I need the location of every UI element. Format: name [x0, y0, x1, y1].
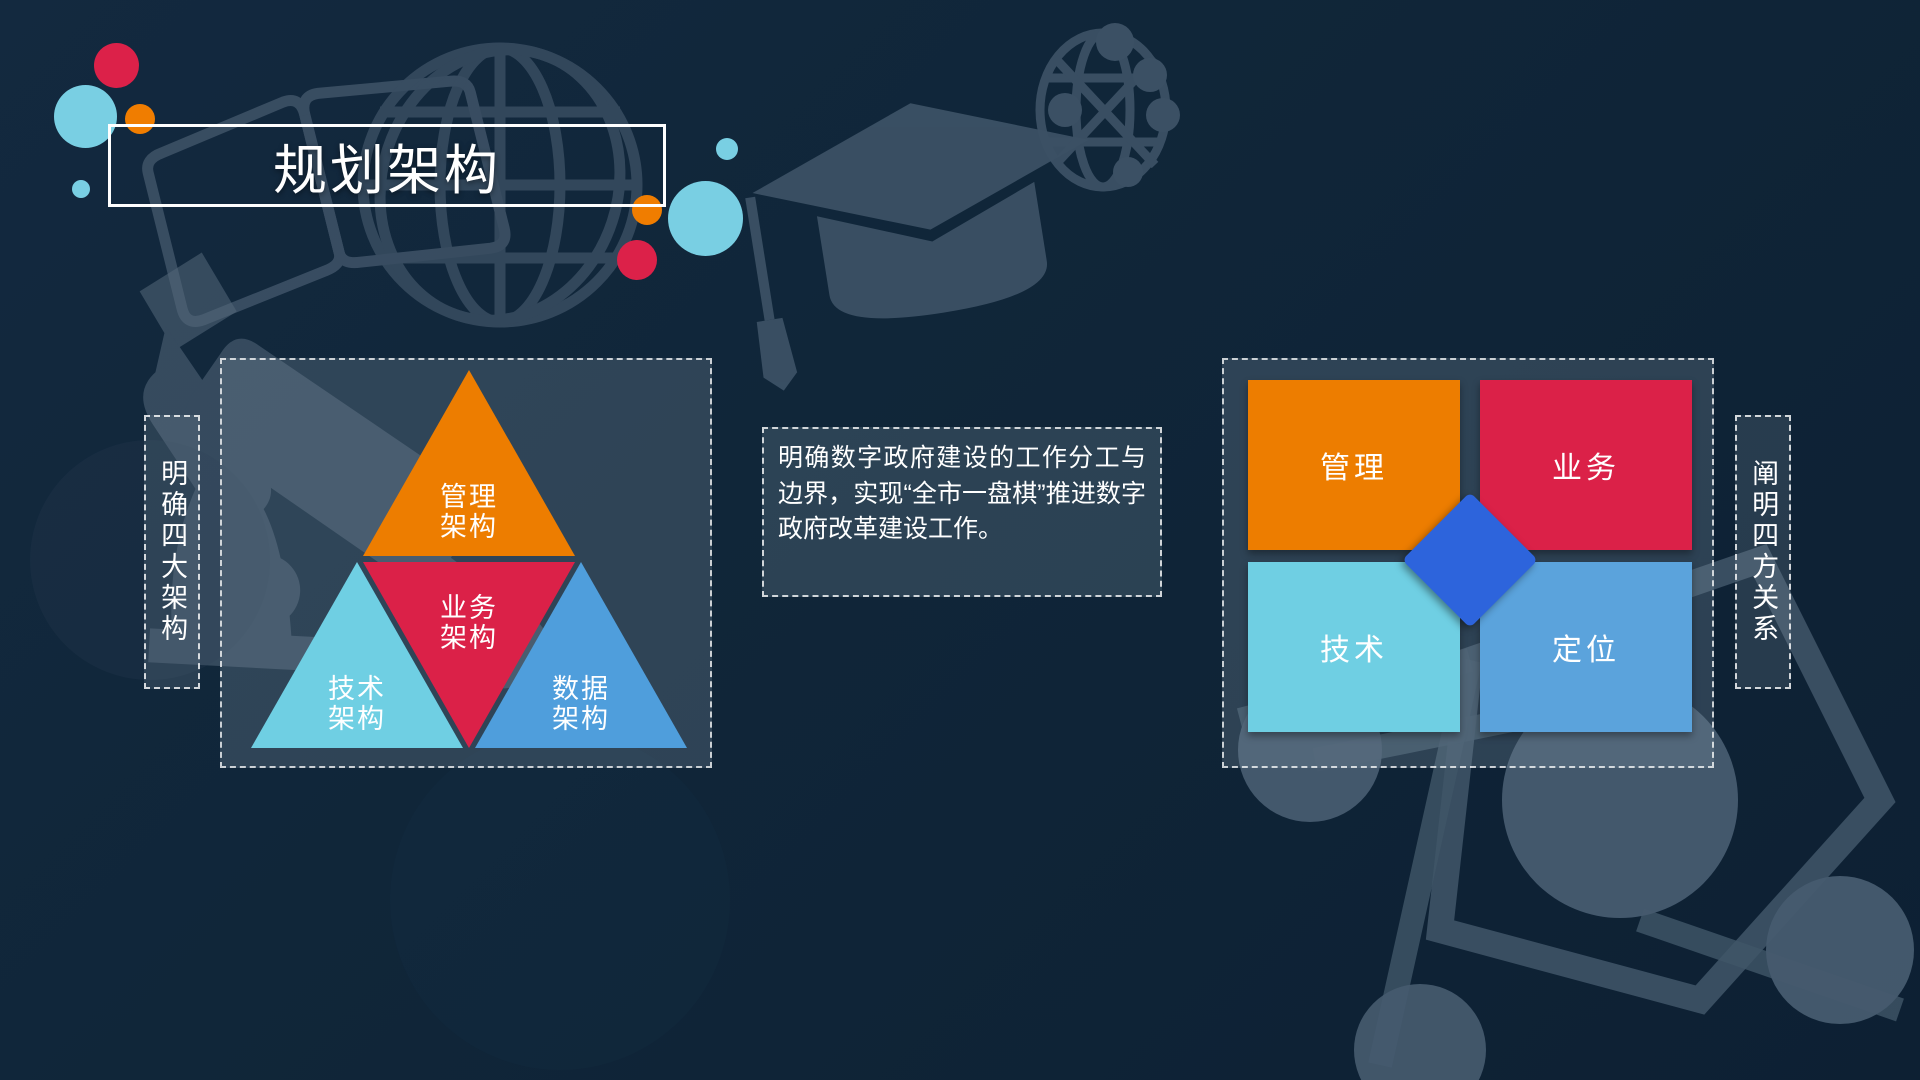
slide-canvas: 规划架构 明确四大架构 管理 架构 技术 架构 数据 架构 业务 架构 明确数字…	[0, 0, 1920, 1080]
dot-cyan-mini	[716, 138, 738, 160]
pyramid-segment-business-face: 业务 架构	[363, 562, 575, 748]
dot-crimson-mid	[617, 240, 657, 280]
graduation-cap-icon	[725, 77, 1120, 394]
pyramid-segment-management[interactable]: 管理 架构	[363, 370, 575, 556]
pyramid-segment-business[interactable]: 业务 架构	[363, 562, 575, 748]
quadrant-cell-technology[interactable]: 技术	[1248, 562, 1460, 732]
network-globe-icon	[1040, 33, 1166, 187]
pyramid-segment-management-face: 管理 架构	[363, 370, 575, 556]
quadrant-cell-management[interactable]: 管理	[1248, 380, 1460, 550]
pyramid-segment-management-label: 管理 架构	[440, 482, 498, 542]
page-title: 规划架构	[108, 124, 666, 207]
right-vertical-label: 阐明四方关系	[1735, 415, 1791, 689]
quadrant-cell-positioning[interactable]: 定位	[1480, 562, 1692, 732]
left-vertical-label: 明确四大架构	[144, 415, 200, 689]
network-globe-nodes	[1048, 23, 1180, 187]
dot-crimson-large	[94, 43, 139, 88]
four-architectures-pyramid: 管理 架构 技术 架构 数据 架构 业务 架构	[232, 370, 702, 755]
quadrant-cell-business[interactable]: 业务	[1480, 380, 1692, 550]
four-relations-quadrant: 管理 业务 技术 定位	[1248, 380, 1692, 742]
dot-cyan-mid	[668, 181, 743, 256]
pyramid-segment-business-label: 业务 架构	[440, 593, 498, 653]
center-note-text: 明确数字政府建设的工作分工与边界，实现“全市一盘棋”推进数字政府改革建设工作。	[762, 427, 1162, 597]
dot-cyan-tiny	[72, 180, 90, 198]
